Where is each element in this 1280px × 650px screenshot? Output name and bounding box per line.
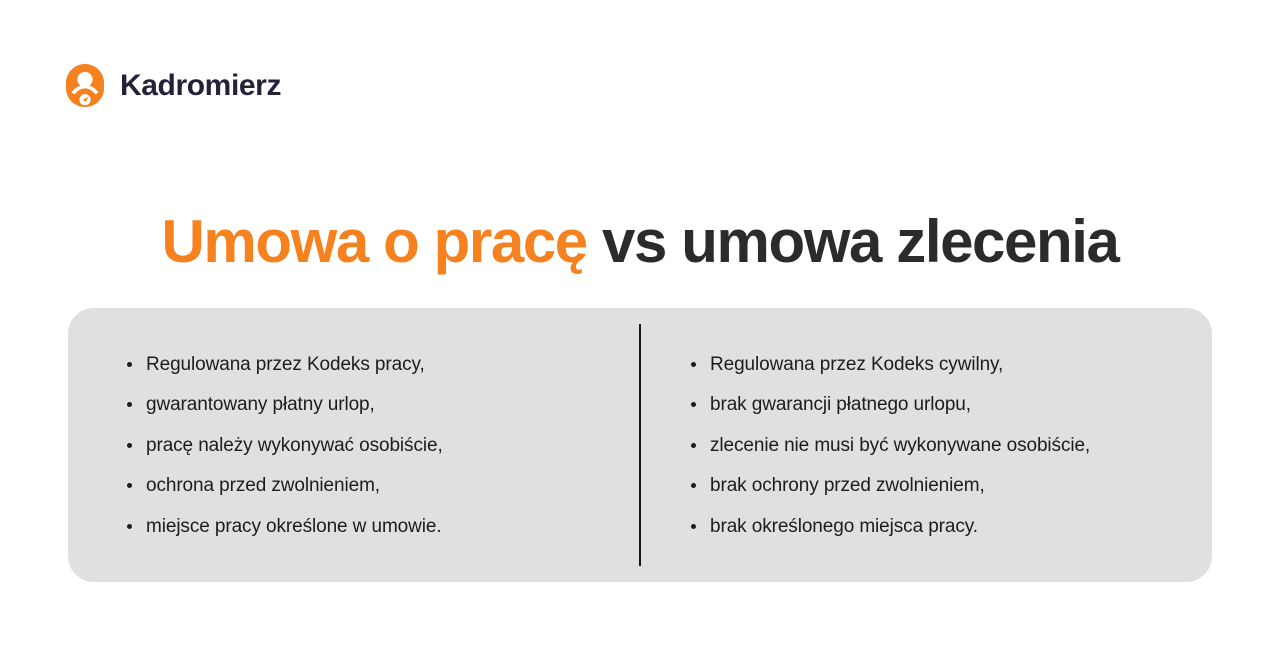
list-item-label: gwarantowany płatny urlop, — [146, 394, 375, 415]
bullet-icon — [127, 362, 132, 367]
feature-list-right: Regulowana przez Kodeks cywilny, brak gw… — [691, 355, 1188, 536]
bullet-icon — [127, 443, 132, 448]
list-item-label: ochrona przed zwolnieniem, — [146, 475, 380, 496]
kadromierz-person-speedometer-icon — [62, 62, 108, 110]
feature-list-left: Regulowana przez Kodeks pracy, gwarantow… — [127, 355, 615, 536]
list-item-label: pracę należy wykonywać osobiście, — [146, 435, 443, 456]
comparison-column-umowa-zlecenia: Regulowana przez Kodeks cywilny, brak gw… — [639, 308, 1212, 582]
list-item: Regulowana przez Kodeks pracy, — [127, 355, 615, 374]
bullet-icon — [691, 524, 696, 529]
list-item: ochrona przed zwolnieniem, — [127, 476, 615, 495]
list-item-label: zlecenie nie musi być wykonywane osobiśc… — [710, 435, 1090, 456]
list-item-label: miejsce pracy określone w umowie. — [146, 516, 442, 537]
list-item-label: brak gwarancji płatnego urlopu, — [710, 394, 971, 415]
list-item: brak ochrony przed zwolnieniem, — [691, 476, 1188, 495]
list-item: zlecenie nie musi być wykonywane osobiśc… — [691, 436, 1188, 455]
list-item: Regulowana przez Kodeks cywilny, — [691, 355, 1188, 374]
list-item: pracę należy wykonywać osobiście, — [127, 436, 615, 455]
bullet-icon — [691, 402, 696, 407]
bullet-icon — [127, 402, 132, 407]
bullet-icon — [691, 362, 696, 367]
bullet-icon — [127, 524, 132, 529]
list-item-label: Regulowana przez Kodeks pracy, — [146, 354, 425, 375]
list-item: gwarantowany płatny urlop, — [127, 395, 615, 414]
bullet-icon — [691, 483, 696, 488]
list-item-label: brak określonego miejsca pracy. — [710, 516, 978, 537]
bullet-icon — [691, 443, 696, 448]
list-item: miejsce pracy określone w umowie. — [127, 517, 615, 536]
bullet-icon — [127, 483, 132, 488]
comparison-card: Regulowana przez Kodeks pracy, gwarantow… — [68, 308, 1212, 582]
brand-logo: Kadromierz — [62, 58, 281, 114]
page-title-accent: Umowa o pracę — [162, 208, 587, 275]
list-item: brak gwarancji płatnego urlopu, — [691, 395, 1188, 414]
page-title: Umowa o pracę vs umowa zlecenia — [0, 208, 1280, 275]
list-item-label: Regulowana przez Kodeks cywilny, — [710, 354, 1003, 375]
brand-name: Kadromierz — [120, 71, 281, 101]
list-item: brak określonego miejsca pracy. — [691, 517, 1188, 536]
comparison-column-umowa-o-prace: Regulowana przez Kodeks pracy, gwarantow… — [68, 308, 639, 582]
page-title-rest: vs umowa zlecenia — [587, 208, 1119, 275]
list-item-label: brak ochrony przed zwolnieniem, — [710, 475, 985, 496]
